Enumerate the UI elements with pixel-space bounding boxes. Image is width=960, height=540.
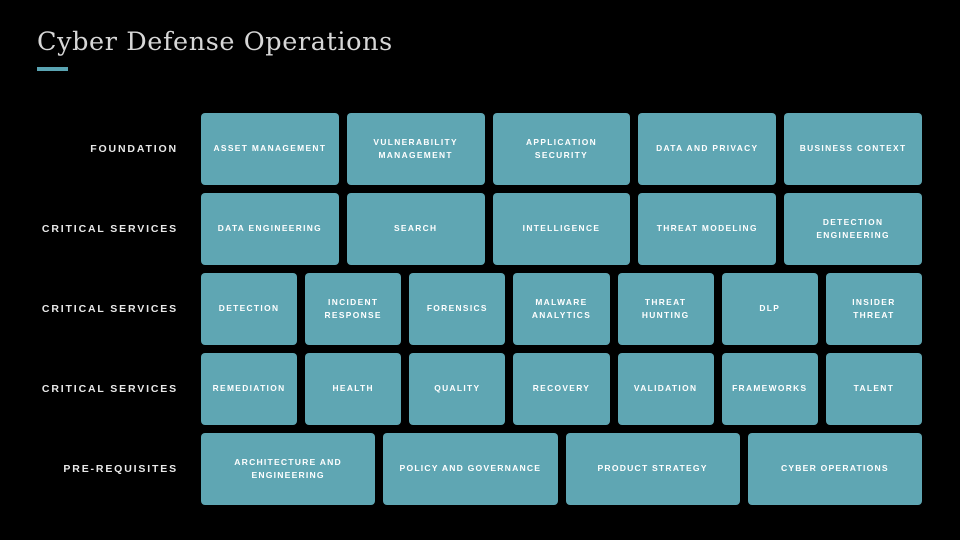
capability-card[interactable]: QUALITY <box>409 353 505 425</box>
capability-card-label: DETECTION <box>219 302 280 315</box>
row-cards: ARCHITECTURE AND ENGINEERING POLICY AND … <box>201 433 960 505</box>
capability-card-label: VULNERABILITY MANAGEMENT <box>373 136 458 162</box>
capability-card[interactable]: RECOVERY <box>513 353 609 425</box>
capability-card[interactable]: POLICY AND GOVERNANCE <box>383 433 557 505</box>
capability-card[interactable]: THREAT MODELING <box>638 193 776 265</box>
capability-card-label: THREAT HUNTING <box>642 296 690 322</box>
capability-card[interactable]: DETECTION <box>201 273 297 345</box>
capability-card[interactable]: SEARCH <box>347 193 485 265</box>
capability-card-label: DLP <box>759 302 780 315</box>
matrix-row: CRITICAL SERVICES DATA ENGINEERING SEARC… <box>0 193 960 265</box>
row-label-cell: FOUNDATION <box>0 113 201 185</box>
capability-card-label: ARCHITECTURE AND ENGINEERING <box>234 456 342 483</box>
capability-card-label: BUSINESS CONTEXT <box>800 142 907 155</box>
row-cards: DETECTION INCIDENT RESPONSE FORENSICS MA… <box>201 273 960 345</box>
capability-card[interactable]: PRODUCT STRATEGY <box>566 433 740 505</box>
capability-card-label: CYBER OPERATIONS <box>781 462 889 475</box>
capability-card[interactable]: ARCHITECTURE AND ENGINEERING <box>201 433 375 505</box>
capability-card[interactable]: FRAMEWORKS <box>722 353 818 425</box>
capability-card-label: SEARCH <box>394 222 437 235</box>
capability-card[interactable]: ASSET MANAGEMENT <box>201 113 339 185</box>
capability-card-label: TALENT <box>854 382 895 395</box>
capability-card-label: REMEDIATION <box>213 382 286 395</box>
capability-card-label: APPLICATION SECURITY <box>526 136 597 162</box>
slide-header: Cyber Defense Operations <box>37 28 917 71</box>
row-label-cell: PRE-REQUISITES <box>0 433 201 505</box>
capability-card[interactable]: VALIDATION <box>618 353 714 425</box>
capability-card[interactable]: MALWARE ANALYTICS <box>513 273 609 345</box>
matrix-row: PRE-REQUISITES ARCHITECTURE AND ENGINEER… <box>0 433 960 505</box>
capability-card-label: ASSET MANAGEMENT <box>214 142 327 155</box>
row-label-cell: CRITICAL SERVICES <box>0 273 201 345</box>
row-label-cell: CRITICAL SERVICES <box>0 193 201 265</box>
row-label-critical-services-3: CRITICAL SERVICES <box>42 383 178 396</box>
capability-card[interactable]: CYBER OPERATIONS <box>748 433 922 505</box>
capability-card-label: INTELLIGENCE <box>523 222 601 235</box>
capability-card-label: INCIDENT RESPONSE <box>325 296 382 322</box>
capability-card[interactable]: DLP <box>722 273 818 345</box>
row-label-foundation: FOUNDATION <box>90 143 178 156</box>
capability-card[interactable]: APPLICATION SECURITY <box>493 113 631 185</box>
capability-card[interactable]: INTELLIGENCE <box>493 193 631 265</box>
capability-card-label: FRAMEWORKS <box>732 382 807 395</box>
matrix-row: FOUNDATION ASSET MANAGEMENT VULNERABILIT… <box>0 113 960 185</box>
capability-card-label: INSIDER THREAT <box>852 296 895 322</box>
capability-card-label: MALWARE ANALYTICS <box>532 296 591 322</box>
page-title: Cyber Defense Operations <box>37 28 917 57</box>
capability-card-label: FORENSICS <box>427 302 488 315</box>
capability-card-label: DATA AND PRIVACY <box>656 142 758 155</box>
capability-card-label: QUALITY <box>434 382 480 395</box>
row-label-critical-services-2: CRITICAL SERVICES <box>42 303 178 316</box>
capability-card-label: RECOVERY <box>533 382 591 395</box>
capability-card[interactable]: BUSINESS CONTEXT <box>784 113 922 185</box>
capability-card-label: THREAT MODELING <box>657 222 758 235</box>
capability-card[interactable]: FORENSICS <box>409 273 505 345</box>
capability-card[interactable]: THREAT HUNTING <box>618 273 714 345</box>
capability-card-label: VALIDATION <box>634 382 697 395</box>
capability-card[interactable]: INSIDER THREAT <box>826 273 922 345</box>
row-label-pre-requisites: PRE-REQUISITES <box>63 463 178 476</box>
capability-matrix: FOUNDATION ASSET MANAGEMENT VULNERABILIT… <box>0 113 960 505</box>
matrix-row: CRITICAL SERVICES DETECTION INCIDENT RES… <box>0 273 960 345</box>
slide-canvas: Cyber Defense Operations FOUNDATION ASSE… <box>0 0 960 540</box>
capability-card[interactable]: TALENT <box>826 353 922 425</box>
row-cards: DATA ENGINEERING SEARCH INTELLIGENCE THR… <box>201 193 960 265</box>
capability-card-label: DETECTION ENGINEERING <box>816 216 889 242</box>
matrix-row: CRITICAL SERVICES REMEDIATION HEALTH QUA… <box>0 353 960 425</box>
capability-card-label: DATA ENGINEERING <box>218 222 322 235</box>
capability-card[interactable]: VULNERABILITY MANAGEMENT <box>347 113 485 185</box>
capability-card[interactable]: DATA AND PRIVACY <box>638 113 776 185</box>
capability-card-label: POLICY AND GOVERNANCE <box>400 462 542 475</box>
row-label-critical-services-1: CRITICAL SERVICES <box>42 223 178 236</box>
capability-card[interactable]: DATA ENGINEERING <box>201 193 339 265</box>
capability-card[interactable]: INCIDENT RESPONSE <box>305 273 401 345</box>
title-accent-bar <box>37 67 68 71</box>
row-cards: ASSET MANAGEMENT VULNERABILITY MANAGEMEN… <box>201 113 960 185</box>
row-cards: REMEDIATION HEALTH QUALITY RECOVERY VALI… <box>201 353 960 425</box>
capability-card-label: HEALTH <box>332 382 373 395</box>
capability-card[interactable]: REMEDIATION <box>201 353 297 425</box>
row-label-cell: CRITICAL SERVICES <box>0 353 201 425</box>
capability-card[interactable]: HEALTH <box>305 353 401 425</box>
capability-card[interactable]: DETECTION ENGINEERING <box>784 193 922 265</box>
capability-card-label: PRODUCT STRATEGY <box>598 462 708 475</box>
